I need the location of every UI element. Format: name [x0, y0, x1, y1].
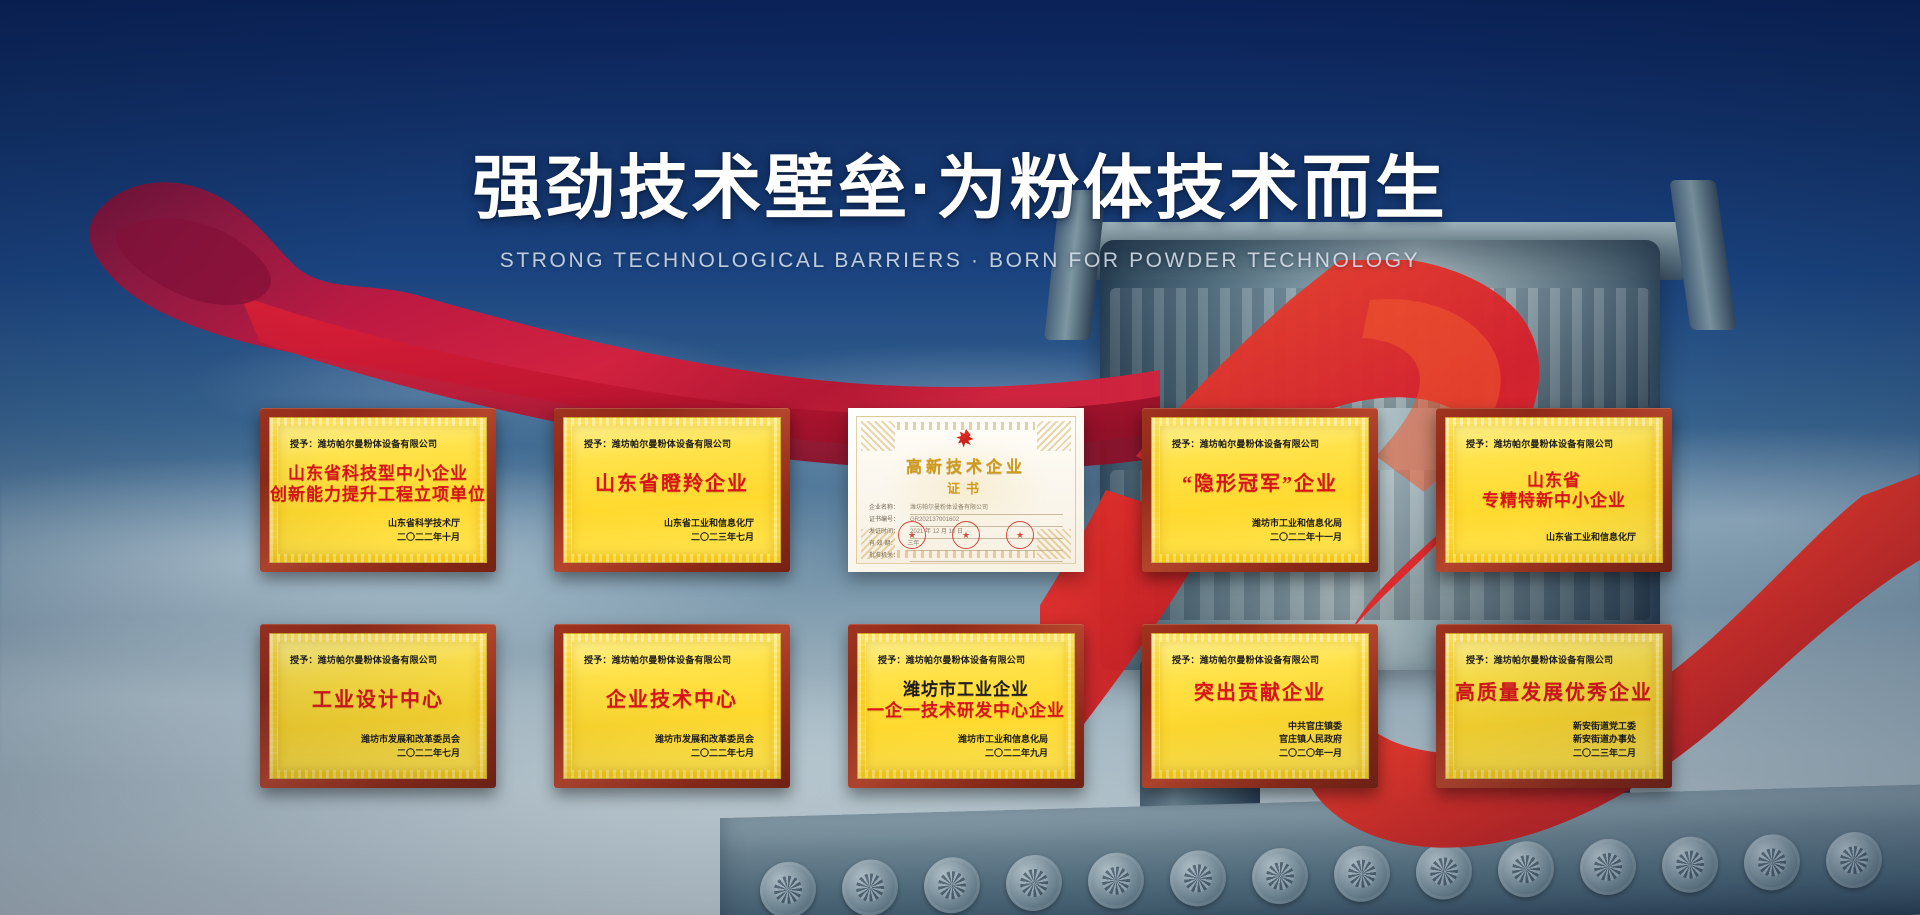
banner-stage: 强劲技术壁垒·为粉体技术而生 STRONG TECHNOLOGICAL BARR… — [0, 0, 1920, 915]
vignette-overlay — [0, 0, 1920, 915]
